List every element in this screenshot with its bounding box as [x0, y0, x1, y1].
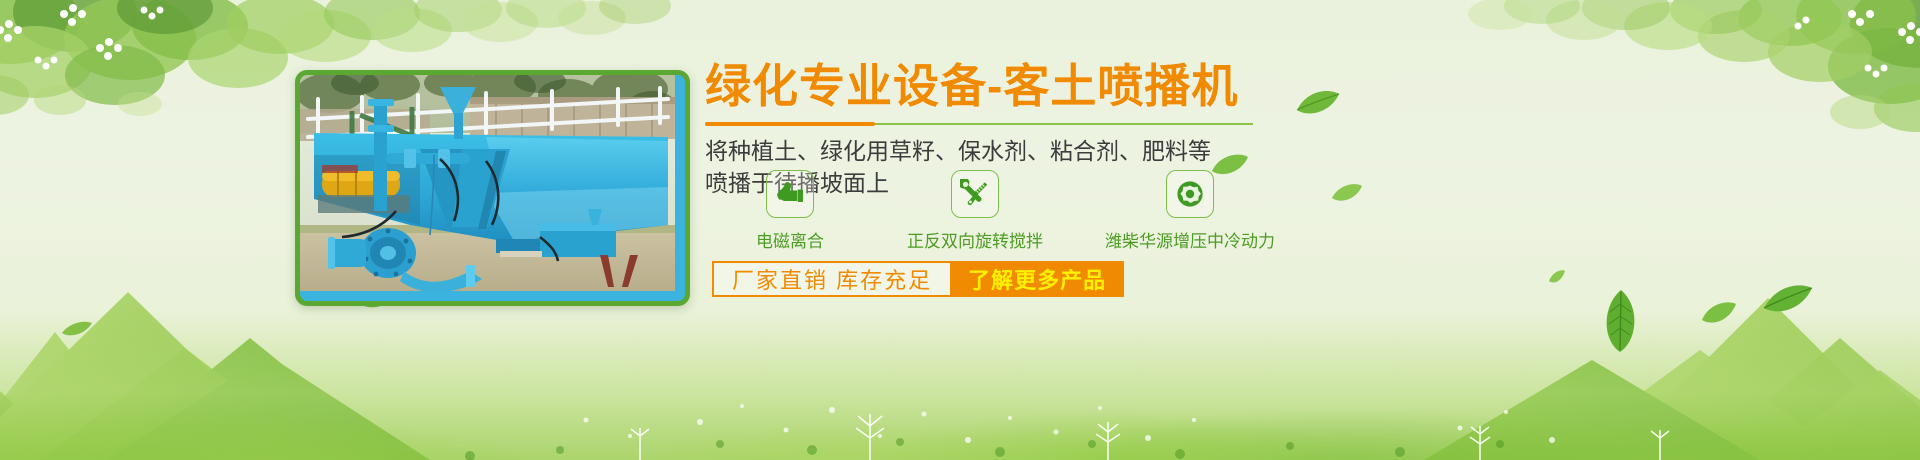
gear-icon: [1166, 170, 1214, 218]
title-divider: [705, 122, 1253, 126]
cta-tagline-text: 厂家直销 库存充足: [732, 263, 932, 295]
divider-green-segment: [875, 123, 1253, 125]
page-title: 绿化专业设备-客土喷播机: [705, 62, 1405, 110]
subtitle-line-1: 将种植土、绿化用草籽、保水剂、粘合剂、肥料等: [705, 136, 1405, 168]
learn-more-button-label: 了解更多产品: [968, 263, 1106, 295]
feature-label: 正反双向旋转搅拌: [907, 227, 1043, 252]
promo-banner: 绿化专业设备-客土喷播机 将种植土、绿化用草籽、保水剂、粘合剂、肥料等 喷播于待…: [0, 0, 1920, 460]
feature-item-electromagnetic-clutch: 电磁离合: [705, 170, 875, 252]
tools-glyph: [960, 179, 990, 209]
feature-item-engine-power: 潍柴华源增压中冷动力: [1075, 170, 1305, 252]
feature-label: 电磁离合: [756, 227, 824, 252]
feature-list: 电磁离合 正反双向旋转搅拌: [705, 170, 1305, 252]
cta-tagline: 厂家直销 库存充足: [712, 261, 950, 297]
cta-bar: 厂家直销 库存充足 了解更多产品: [712, 261, 1124, 297]
tools-icon: [951, 170, 999, 218]
feature-item-bidirectional-mixing: 正反双向旋转搅拌: [875, 170, 1075, 252]
feature-label: 潍柴华源增压中冷动力: [1105, 227, 1275, 252]
thumbs-up-glyph: [775, 179, 805, 209]
thumbs-up-icon: [766, 170, 814, 218]
product-photo: [300, 75, 685, 301]
gear-glyph: [1175, 179, 1205, 209]
divider-orange-segment: [705, 122, 875, 126]
product-photo-card[interactable]: [295, 70, 690, 306]
learn-more-button[interactable]: 了解更多产品: [950, 261, 1124, 297]
product-photo-svg: [300, 75, 675, 291]
